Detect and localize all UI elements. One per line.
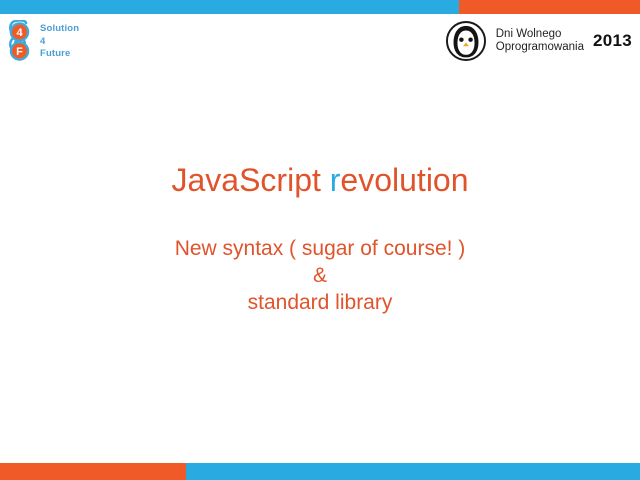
- top-bar-blue-segment: [0, 0, 459, 14]
- s4f-hourglass-logo-icon: 4 F: [6, 20, 34, 64]
- brand-line-four: 4: [40, 36, 79, 49]
- slide-content: JavaScript revolution New syntax ( sugar…: [0, 160, 640, 316]
- bottom-bar-orange-segment: [0, 463, 186, 480]
- brand-solution4future: 4 F Solution 4 Future: [6, 20, 79, 64]
- title-part-javascript: JavaScript: [171, 162, 329, 198]
- slide-subtitle: New syntax ( sugar of course! ) & standa…: [0, 235, 640, 316]
- brand-dni-wolnego-oprogramowania: Dni Wolnego Oprogramowania 2013: [445, 20, 632, 62]
- slide-header: 4 F Solution 4 Future Dni Wolnego Oprogr: [0, 14, 640, 76]
- top-decorative-bar: [0, 0, 640, 14]
- svg-text:F: F: [16, 46, 23, 58]
- title-part-evolution: evolution: [340, 162, 468, 198]
- subtitle-line-2: &: [0, 262, 640, 289]
- dwo-title-text: Dni Wolnego Oprogramowania: [496, 28, 584, 55]
- brand-line-solution: Solution: [40, 23, 79, 36]
- subtitle-line-1: New syntax ( sugar of course! ): [0, 235, 640, 262]
- brand-solution4future-text: Solution 4 Future: [40, 23, 79, 61]
- svg-text:4: 4: [16, 27, 23, 39]
- dwo-year: 2013: [593, 31, 632, 51]
- brand-line-future: Future: [40, 48, 79, 61]
- dwo-line-2: Oprogramowania: [496, 41, 584, 55]
- slide-canvas: 4 F Solution 4 Future Dni Wolnego Oprogr: [0, 0, 640, 480]
- slide-title: JavaScript revolution: [0, 160, 640, 200]
- title-accent-r: r: [330, 162, 341, 198]
- bottom-bar-blue-segment: [186, 463, 640, 480]
- top-bar-orange-segment: [459, 0, 640, 14]
- penguin-logo-icon: [445, 20, 487, 62]
- dwo-line-1: Dni Wolnego: [496, 28, 584, 42]
- subtitle-line-3: standard library: [0, 289, 640, 316]
- bottom-decorative-bar: [0, 463, 640, 480]
